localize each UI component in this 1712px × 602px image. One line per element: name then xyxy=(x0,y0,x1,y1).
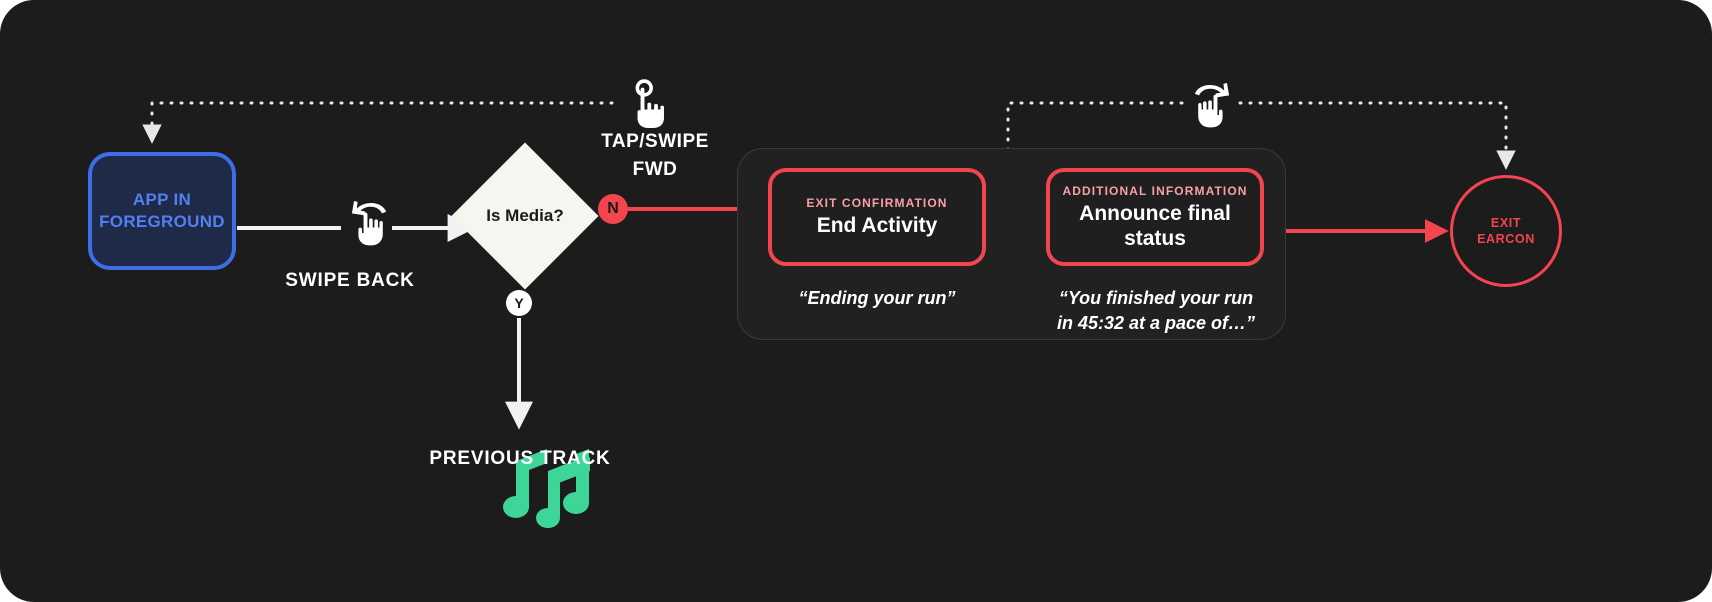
additional-information-title-line1: Announce final xyxy=(1079,201,1231,226)
additional-information-title: Announce final status xyxy=(1079,201,1231,251)
app-in-foreground-label: APP IN FOREGROUND xyxy=(99,189,225,233)
swipe-back-hand-icon xyxy=(352,201,386,245)
caption-quote-finished-line1: “You finished your run xyxy=(1032,286,1280,311)
exit-confirmation-title: End Activity xyxy=(817,213,938,238)
badge-yes: Y xyxy=(506,290,532,316)
label-tap-swipe-fwd-line2: FWD xyxy=(575,156,735,184)
node-additional-information[interactable]: ADDITIONAL INFORMATION Announce final st… xyxy=(1046,168,1264,266)
app-in-foreground-line2: FOREGROUND xyxy=(99,211,225,233)
swipe-forward-hand-icon xyxy=(1195,83,1229,127)
exit-earcon-line1: EXIT xyxy=(1477,215,1535,231)
additional-information-title-line2: status xyxy=(1079,226,1231,251)
label-previous-track: PREVIOUS TRACK xyxy=(410,448,630,470)
label-tap-swipe-fwd-line1: TAP/SWIPE xyxy=(575,128,735,156)
app-in-foreground-line1: APP IN xyxy=(99,189,225,211)
tap-hand-icon xyxy=(637,81,664,128)
badge-no: N xyxy=(598,194,628,224)
diagram-canvas: APP IN FOREGROUND SWIPE BACK TAP/SWIPE F… xyxy=(0,0,1712,602)
connector-dotted-return-to-app xyxy=(152,103,612,140)
caption-quote-finished-line2: in 45:32 at a pace of…” xyxy=(1032,311,1280,336)
caption-quote-ending: “Ending your run” xyxy=(768,286,986,311)
decision-label: Is Media? xyxy=(456,140,594,292)
node-decision-is-media[interactable]: Is Media? xyxy=(456,140,594,292)
node-exit-confirmation[interactable]: EXIT CONFIRMATION End Activity xyxy=(768,168,986,266)
exit-confirmation-eyebrow: EXIT CONFIRMATION xyxy=(806,196,947,210)
node-exit-earcon[interactable]: EXIT EARCON xyxy=(1450,175,1562,287)
label-tap-swipe-fwd: TAP/SWIPE FWD xyxy=(575,128,735,184)
caption-quote-finished: “You finished your run in 45:32 at a pac… xyxy=(1032,286,1280,336)
exit-earcon-line2: EARCON xyxy=(1477,231,1535,247)
label-swipe-back: SWIPE BACK xyxy=(240,270,460,292)
node-app-in-foreground[interactable]: APP IN FOREGROUND xyxy=(88,152,236,270)
additional-information-eyebrow: ADDITIONAL INFORMATION xyxy=(1062,184,1247,198)
exit-earcon-label: EXIT EARCON xyxy=(1477,215,1535,247)
